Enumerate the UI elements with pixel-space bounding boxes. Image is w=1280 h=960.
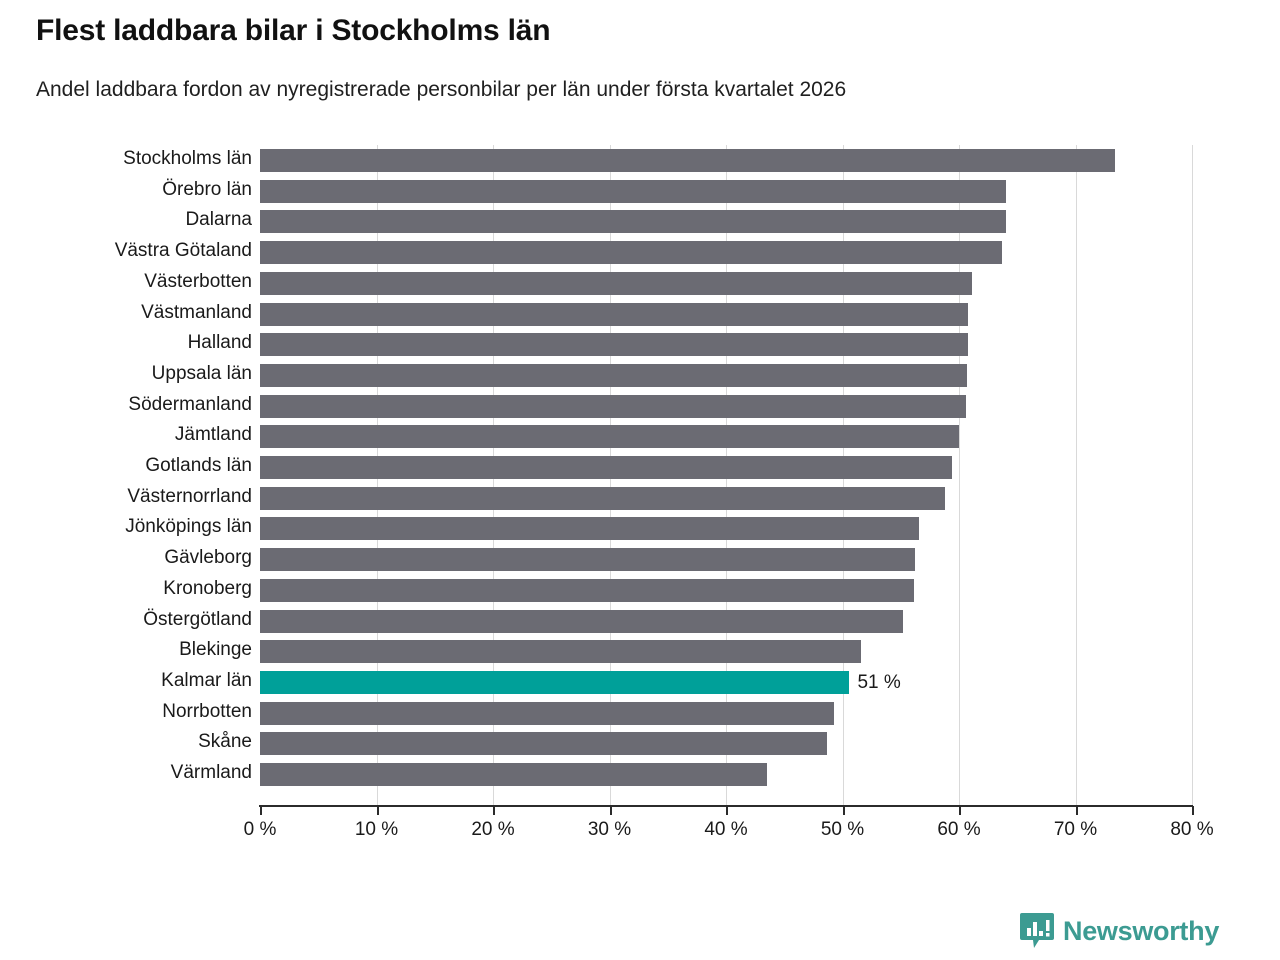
x-axis-tick [610,806,612,815]
y-axis-label: Jämtland [0,424,252,446]
chart-bar-row [260,759,1192,790]
x-axis-tick-label: 20 % [471,819,514,841]
y-axis-label: Västernorrland [0,486,252,508]
y-axis-label: Stockholms län [0,148,252,170]
bar[interactable] [260,579,914,602]
y-axis-label: Kronoberg [0,578,252,600]
y-axis-label: Uppsala län [0,363,252,385]
chart-bar-row [260,237,1192,268]
x-axis-tick [377,806,379,815]
chart-subtitle: Andel laddbara fordon av nyregistrerade … [36,78,846,102]
x-axis-tick-label: 10 % [355,819,398,841]
y-axis-label: Kalmar län [0,670,252,692]
plot-area: 51 % [260,145,1192,805]
gridline [1192,145,1193,805]
x-axis-tick-label: 70 % [1054,819,1097,841]
bar[interactable] [260,303,968,326]
chart-bar-row [260,176,1192,207]
chart-bar-row [260,606,1192,637]
y-axis-label: Blekinge [0,639,252,661]
chart-bar-row [260,728,1192,759]
x-axis-tick-label: 40 % [704,819,747,841]
x-axis-tick [1192,806,1194,815]
x-axis-tick-label: 60 % [937,819,980,841]
x-axis-tick [493,806,495,815]
x-axis-tick [726,806,728,815]
bar[interactable] [260,364,967,387]
bar-highlighted[interactable] [260,671,849,694]
x-axis-tick [843,806,845,815]
bar-chart-speech-bubble-icon [1020,912,1054,950]
x-axis-tick-label: 0 % [244,819,277,841]
chart-bar-row: 51 % [260,667,1192,698]
bar[interactable] [260,456,952,479]
y-axis-label: Halland [0,332,252,354]
y-axis-label: Södermanland [0,394,252,416]
bar[interactable] [260,517,919,540]
bar[interactable] [260,487,945,510]
chart-bar-row [260,299,1192,330]
chart-bar-row [260,360,1192,391]
bar[interactable] [260,548,915,571]
chart-bar-row [260,145,1192,176]
chart-bar-row [260,452,1192,483]
chart-bar-row [260,329,1192,360]
y-axis-label: Västerbotten [0,271,252,293]
bar[interactable] [260,333,968,356]
chart-page: Flest laddbara bilar i Stockholms län An… [0,0,1280,960]
bar[interactable] [260,610,903,633]
bar[interactable] [260,180,1006,203]
y-axis-label: Västmanland [0,302,252,324]
bar[interactable] [260,210,1006,233]
y-axis-label: Värmland [0,762,252,784]
chart-bar-row [260,421,1192,452]
bar[interactable] [260,640,861,663]
chart-bar-row [260,206,1192,237]
x-axis-tick [1076,806,1078,815]
bar[interactable] [260,241,1002,264]
bar[interactable] [260,395,966,418]
x-axis-tick [260,806,262,815]
y-axis-label: Örebro län [0,179,252,201]
y-axis-category-labels: Stockholms länÖrebro länDalarnaVästra Gö… [0,145,252,805]
chart-bar-row [260,698,1192,729]
y-axis-label: Östergötland [0,609,252,631]
bar[interactable] [260,732,827,755]
chart-bar-row [260,575,1192,606]
y-axis-label: Gävleborg [0,547,252,569]
bar[interactable] [260,272,972,295]
chart-bar-row [260,544,1192,575]
x-axis-tick-label: 30 % [588,819,631,841]
chart-bar-row [260,636,1192,667]
newsworthy-logo: Newsworthy [1020,912,1219,950]
chart-bar-row [260,483,1192,514]
y-axis-label: Dalarna [0,209,252,231]
x-axis-tick [959,806,961,815]
bar-value-label: 51 % [857,672,900,694]
y-axis-label: Norrbotten [0,701,252,723]
chart-bar-row [260,513,1192,544]
chart-bar-row [260,391,1192,422]
chart-bar-row [260,268,1192,299]
bar[interactable] [260,702,834,725]
logo-wordmark: Newsworthy [1063,918,1219,945]
page-title: Flest laddbara bilar i Stockholms län [36,14,550,48]
bar[interactable] [260,149,1115,172]
x-axis-tick-label: 50 % [821,819,864,841]
bar[interactable] [260,763,767,786]
bar[interactable] [260,425,959,448]
y-axis-label: Västra Götaland [0,240,252,262]
x-axis-tick-label: 80 % [1170,819,1213,841]
y-axis-label: Gotlands län [0,455,252,477]
y-axis-label: Jönköpings län [0,516,252,538]
y-axis-label: Skåne [0,731,252,753]
